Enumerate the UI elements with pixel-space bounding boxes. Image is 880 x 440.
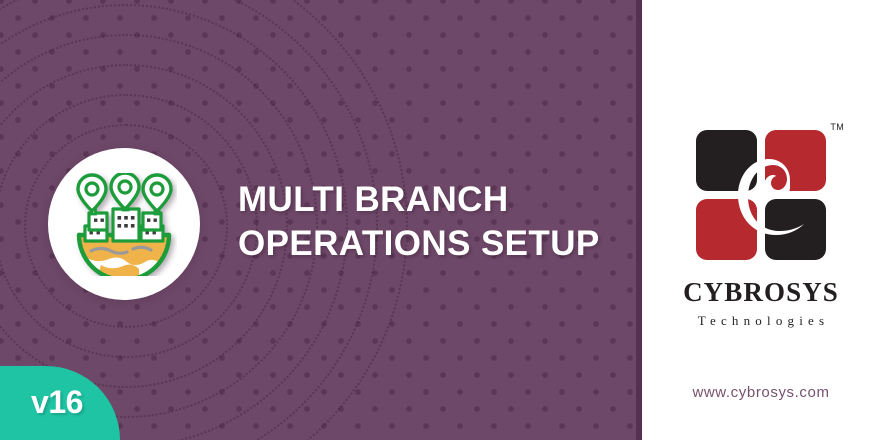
- product-title-line-2: OPERATIONS SETUP: [238, 222, 618, 266]
- product-title-line-1: MULTI BRANCH: [238, 178, 618, 222]
- product-banner: MULTI BRANCH OPERATIONS SETUP v16: [0, 0, 880, 440]
- trademark-symbol: TM: [830, 122, 844, 132]
- product-title: MULTI BRANCH OPERATIONS SETUP: [238, 178, 618, 266]
- multi-branch-globe-icon: [71, 173, 177, 276]
- brand-tagline: Technologies: [642, 314, 880, 327]
- map-pin-center: [111, 173, 139, 209]
- version-badge-label: v16: [31, 384, 89, 423]
- map-pin-left: [78, 175, 106, 211]
- left-purple-panel: MULTI BRANCH OPERATIONS SETUP v16: [0, 0, 636, 440]
- brand-block: TM CYBROSYS Technologies: [642, 128, 880, 327]
- website-url: www.cybrosys.com: [642, 384, 880, 401]
- brand-name: CYBROSYS: [642, 279, 880, 306]
- map-pin-right: [143, 175, 171, 211]
- right-white-panel: TM CYBROSYS Technologies www.cybrosys.co…: [642, 0, 880, 440]
- cybrosys-logo: TM: [694, 128, 828, 262]
- icon-circle-background: [48, 148, 200, 300]
- cybrosys-logo-mark: [694, 128, 828, 262]
